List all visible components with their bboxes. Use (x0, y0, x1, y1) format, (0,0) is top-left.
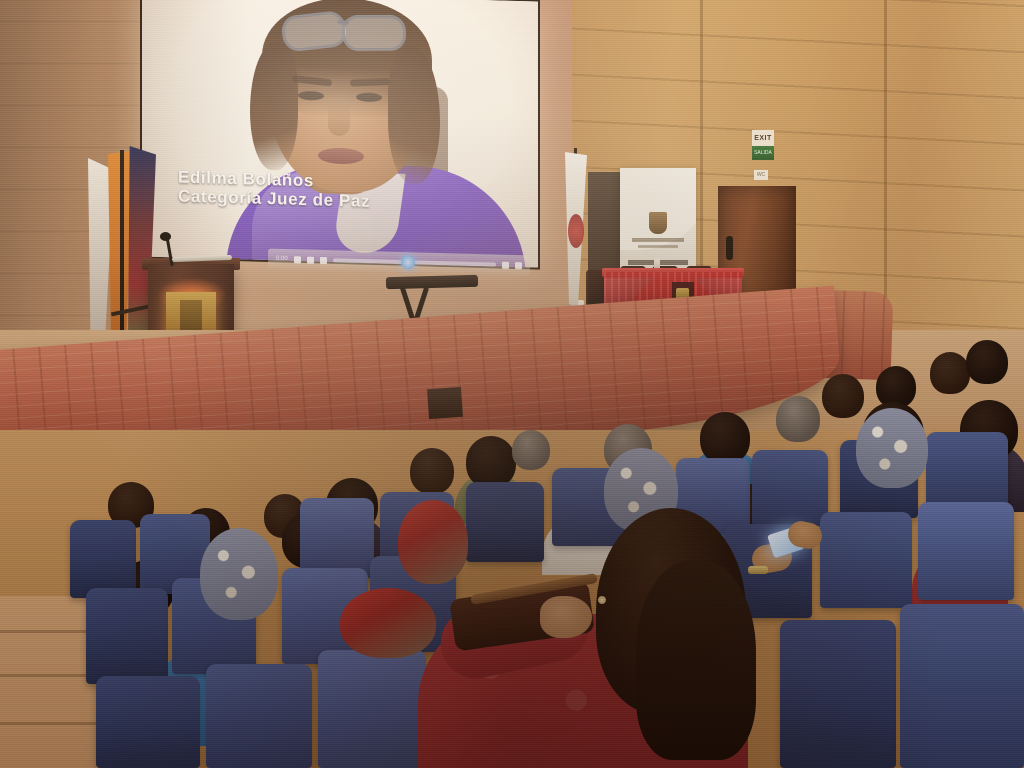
foreground-person-hand (540, 596, 592, 638)
red-scarf (340, 588, 436, 658)
patterned-headwrap (200, 528, 278, 620)
wristwatch (748, 566, 768, 574)
foreground-person-hair-lower (636, 560, 756, 760)
red-headwrap (398, 500, 468, 584)
earring (598, 596, 606, 604)
auditorium-photo: Edilma Bolaños Categoría Juez de Paz 0:0… (0, 0, 1024, 768)
braided-hair-bun (856, 408, 928, 488)
